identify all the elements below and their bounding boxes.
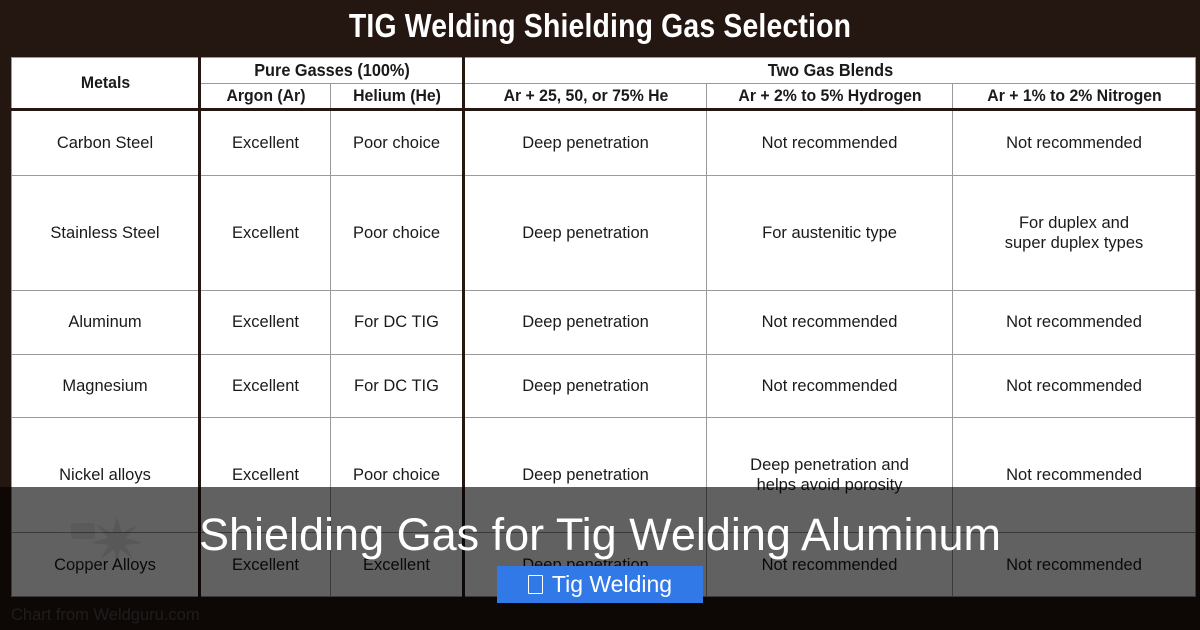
cell-helium: Poor choice (331, 176, 464, 291)
play-square-icon (528, 575, 543, 594)
table-row: Stainless SteelExcellentPoor choiceDeep … (12, 176, 1196, 291)
cell-argon: Excellent (200, 110, 331, 176)
cell-metal: Magnesium (12, 354, 200, 418)
table-row: AluminumExcellentFor DC TIGDeep penetrat… (12, 291, 1196, 355)
group-header-two-gas-blends: Two Gas Blends (489, 58, 1170, 84)
badge-label: Tig Welding (552, 571, 672, 598)
page-title: TIG Welding Shielding Gas Selection (349, 7, 851, 45)
column-header-ar-he: Ar + 25, 50, or 75% He (472, 84, 698, 110)
cell-hydrogen: For austenitic type (707, 176, 953, 291)
chart-title-bar: TIG Welding Shielding Gas Selection (0, 0, 1200, 52)
table-row: MagnesiumExcellentFor DC TIGDeep penetra… (12, 354, 1196, 418)
tig-welding-badge[interactable]: Tig Welding (497, 566, 703, 603)
cell-helium: For DC TIG (331, 291, 464, 355)
table-row: Carbon SteelExcellentPoor choiceDeep pen… (12, 110, 1196, 176)
cell-ar-he: Deep penetration (464, 354, 707, 418)
chart-source-credit: Chart from Weldguru.com (11, 606, 200, 625)
column-header-nitrogen: Ar + 1% to 2% Nitrogen (961, 84, 1187, 110)
cell-metal: Aluminum (12, 291, 200, 355)
cell-hydrogen: Not recommended (707, 110, 953, 176)
column-header-metals: Metals (18, 58, 193, 110)
cell-nitrogen: Not recommended (953, 291, 1196, 355)
cell-nitrogen: Not recommended (953, 110, 1196, 176)
group-header-pure-gasses: Pure Gasses (100%) (209, 58, 455, 84)
table-group-header-row: Metals Pure Gasses (100%) Two Gas Blends (12, 58, 1196, 84)
cell-nitrogen: For duplex andsuper duplex types (953, 176, 1196, 291)
cell-nitrogen: Not recommended (953, 354, 1196, 418)
cell-argon: Excellent (200, 291, 331, 355)
cell-ar-he: Deep penetration (464, 291, 707, 355)
cell-metal: Carbon Steel (12, 110, 200, 176)
cell-hydrogen: Not recommended (707, 354, 953, 418)
overlay-headline: Shielding Gas for Tig Welding Aluminum (0, 509, 1200, 561)
cell-argon: Excellent (200, 354, 331, 418)
column-header-argon: Argon (Ar) (204, 84, 326, 110)
infographic-canvas: TIG Welding Shielding Gas Selection Meta… (0, 0, 1200, 630)
cell-argon: Excellent (200, 176, 331, 291)
cell-ar-he: Deep penetration (464, 176, 707, 291)
cell-helium: For DC TIG (331, 354, 464, 418)
table-header: Metals Pure Gasses (100%) Two Gas Blends… (12, 58, 1196, 110)
cell-helium: Poor choice (331, 110, 464, 176)
column-header-helium: Helium (He) (335, 84, 459, 110)
cell-ar-he: Deep penetration (464, 110, 707, 176)
column-header-hydrogen: Ar + 2% to 5% Hydrogen (715, 84, 944, 110)
cell-metal: Stainless Steel (12, 176, 200, 291)
cell-hydrogen: Not recommended (707, 291, 953, 355)
